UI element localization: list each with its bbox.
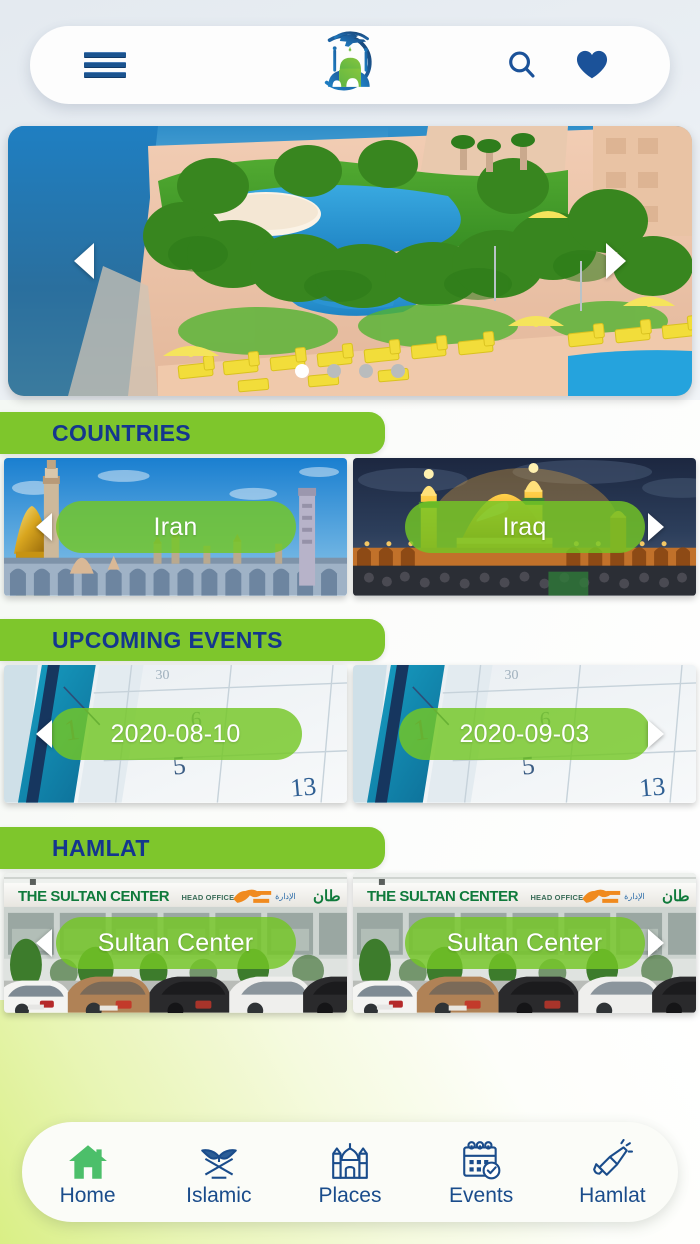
nav-label: Hamlat xyxy=(579,1184,646,1208)
carousel-next-button[interactable] xyxy=(606,243,626,279)
carousel-dot[interactable] xyxy=(295,364,309,378)
section-title: HAMLAT xyxy=(52,835,150,862)
hamlat-card-1[interactable]: THE SULTAN CENTER HEAD OFFICE الإدارة طا… xyxy=(4,873,347,1013)
hamlat-prev-button[interactable] xyxy=(36,929,52,957)
svg-text:13: 13 xyxy=(638,771,666,802)
megaphone-icon xyxy=(591,1137,633,1181)
svg-text:30: 30 xyxy=(156,668,170,683)
home-icon xyxy=(67,1137,109,1181)
countries-card-list: Iran xyxy=(0,458,700,596)
section-countries: COUNTRIES xyxy=(0,412,700,596)
nav-item-home[interactable]: Home xyxy=(33,1137,143,1208)
svg-text:الإدارة: الإدارة xyxy=(624,892,645,901)
events-next-button[interactable] xyxy=(648,720,664,748)
nav-label: Events xyxy=(449,1184,513,1208)
quran-icon xyxy=(197,1137,241,1181)
hero-carousel[interactable] xyxy=(8,126,692,396)
events-card-list: 1 6 5 13 30 2020-08-10 xyxy=(0,665,700,803)
section-hamlat: HAMLAT xyxy=(0,827,700,1013)
nav-item-events[interactable]: Events xyxy=(426,1137,536,1208)
burger-bar xyxy=(84,72,126,78)
section-header-hamlat: HAMLAT xyxy=(0,827,385,869)
hamlat-label: Sultan Center xyxy=(98,929,253,958)
section-header-upcoming-events: UPCOMING EVENTS xyxy=(0,619,385,661)
country-pill-iraq[interactable]: Iraq xyxy=(405,501,645,553)
section-header-countries: COUNTRIES xyxy=(0,412,385,454)
hamburger-menu-icon[interactable] xyxy=(70,35,140,95)
section-title: UPCOMING EVENTS xyxy=(52,627,283,654)
svg-text:طان: طان xyxy=(662,888,690,905)
event-pill-2[interactable]: 2020-09-03 xyxy=(399,708,651,760)
section-upcoming-events: UPCOMING EVENTS xyxy=(0,619,700,803)
nav-item-islamic[interactable]: Islamic xyxy=(164,1137,274,1208)
burger-bar xyxy=(84,52,126,58)
carousel-dot[interactable] xyxy=(327,364,341,378)
hamlat-card-2[interactable]: THE SULTAN CENTER HEAD OFFICE الإدارة طا… xyxy=(353,873,696,1013)
hamlat-next-button[interactable] xyxy=(648,929,664,957)
svg-text:13: 13 xyxy=(289,771,317,802)
calendar-check-icon xyxy=(459,1137,503,1181)
carousel-dot[interactable] xyxy=(391,364,405,378)
country-pill-iran[interactable]: Iran xyxy=(56,501,296,553)
heart-icon[interactable] xyxy=(566,39,618,91)
mosque-icon xyxy=(329,1137,371,1181)
svg-text:30: 30 xyxy=(505,668,519,683)
app-header xyxy=(30,26,670,104)
countries-prev-button[interactable] xyxy=(36,513,52,541)
country-card-iraq[interactable]: Iraq xyxy=(353,458,696,596)
svg-text:THE SULTAN CENTER: THE SULTAN CENTER xyxy=(18,888,170,905)
carousel-prev-button[interactable] xyxy=(74,243,94,279)
svg-text:الإدارة: الإدارة xyxy=(275,892,296,901)
event-date-label: 2020-09-03 xyxy=(460,720,590,749)
country-label: Iran xyxy=(154,513,198,542)
hamlat-pill-2[interactable]: Sultan Center xyxy=(405,917,645,969)
country-label: Iraq xyxy=(503,513,547,542)
nav-item-hamlat[interactable]: Hamlat xyxy=(557,1137,667,1208)
countries-next-button[interactable] xyxy=(648,513,664,541)
carousel-dot[interactable] xyxy=(359,364,373,378)
event-card-1[interactable]: 1 6 5 13 30 2020-08-10 xyxy=(4,665,347,803)
bottom-navigation: Home Islamic xyxy=(22,1122,678,1222)
event-date-label: 2020-08-10 xyxy=(111,720,241,749)
event-pill-1[interactable]: 2020-08-10 xyxy=(50,708,302,760)
nav-label: Islamic xyxy=(186,1184,251,1208)
burger-bar xyxy=(84,62,126,68)
svg-text:طان: طان xyxy=(313,888,341,905)
country-card-iran[interactable]: Iran xyxy=(4,458,347,596)
hamlat-pill-1[interactable]: Sultan Center xyxy=(56,917,296,969)
svg-text:THE SULTAN CENTER: THE SULTAN CENTER xyxy=(367,888,519,905)
svg-text:HEAD OFFICE: HEAD OFFICE xyxy=(530,893,583,902)
nav-label: Places xyxy=(318,1184,381,1208)
nav-item-places[interactable]: Places xyxy=(295,1137,405,1208)
carousel-dots[interactable] xyxy=(295,364,405,378)
events-prev-button[interactable] xyxy=(36,720,52,748)
hamlat-label: Sultan Center xyxy=(447,929,602,958)
nav-label: Home xyxy=(60,1184,116,1208)
hero-image xyxy=(8,126,692,396)
svg-text:HEAD OFFICE: HEAD OFFICE xyxy=(181,893,234,902)
search-icon[interactable] xyxy=(496,39,548,91)
section-title: COUNTRIES xyxy=(52,420,191,447)
hamlat-card-list: THE SULTAN CENTER HEAD OFFICE الإدارة طا… xyxy=(0,873,700,1013)
mosque-airplane-logo[interactable] xyxy=(312,30,388,100)
event-card-2[interactable]: 1 6 5 13 30 2020-09-03 xyxy=(353,665,696,803)
